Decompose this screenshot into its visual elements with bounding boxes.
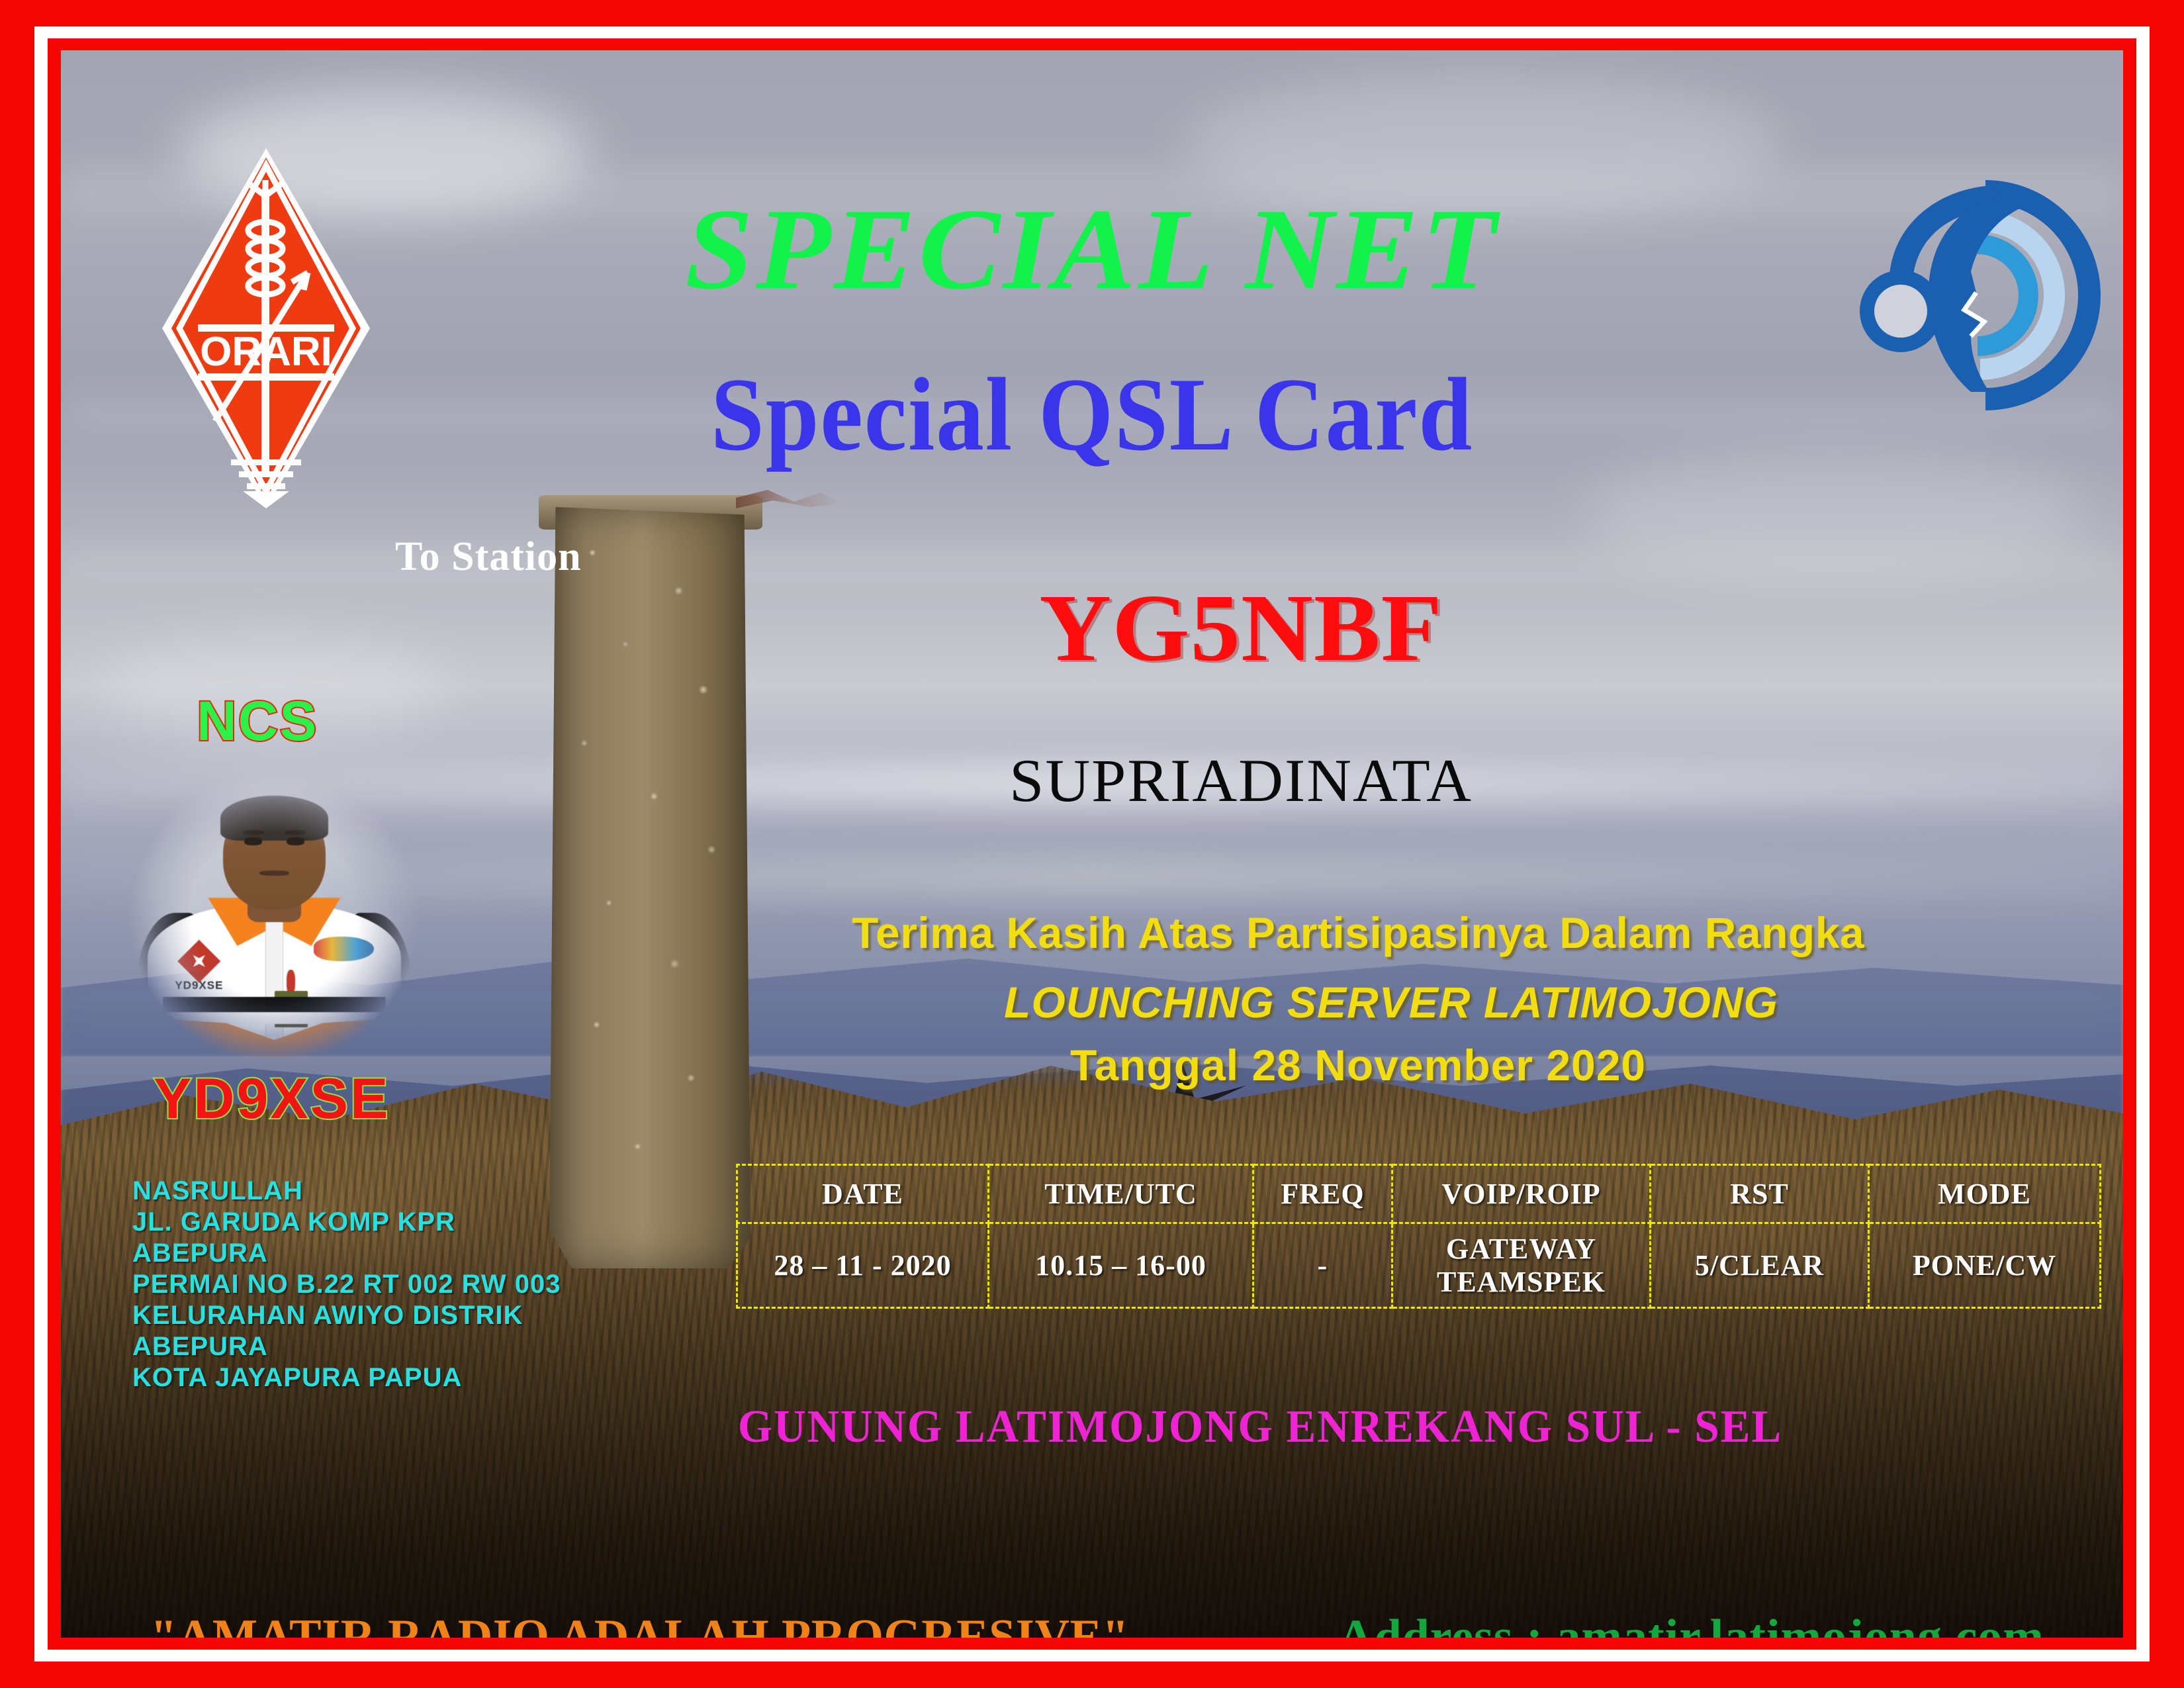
qso-details-table: DATE TIME/UTC FREQ VOIP/ROIP RST MODE 28… (736, 1164, 2101, 1309)
stone-monument-pillar (547, 507, 752, 1268)
card-subtitle: Special QSL Card (144, 355, 2041, 475)
to-station-label: To Station (395, 534, 582, 581)
column-header-time: TIME/UTC (989, 1165, 1253, 1223)
portrait-eye-left (244, 837, 262, 845)
table-row: 28 – 11 - 2020 10.15 – 16-00 - GATEWAY T… (737, 1223, 2101, 1308)
cell-voip-line2: TEAMSPEK (1393, 1266, 1649, 1298)
card-photo-background: ORARI (61, 50, 2123, 1638)
cell-date: 28 – 11 - 2020 (737, 1223, 989, 1308)
ncs-callsign: YD9XSE (154, 1066, 390, 1132)
cell-time: 10.15 – 16-00 (989, 1223, 1253, 1308)
address-line: KELURAHAN AWIYO DISTRIK (132, 1300, 561, 1331)
column-header-freq: FREQ (1253, 1165, 1392, 1223)
address-line: JL. GARUDA KOMP KPR (132, 1207, 561, 1238)
cell-voip: GATEWAY TEAMSPEK (1392, 1223, 1651, 1308)
cell-mode: PONE/CW (1869, 1223, 2101, 1308)
address-line: PERMAI NO B.22 RT 002 RW 003 (132, 1269, 561, 1300)
mailing-address-block: NASRULLAH JL. GARUDA KOMP KPR ABEPURA PE… (132, 1176, 561, 1393)
portrait-eye-right (287, 837, 304, 845)
station-callsign: YG5NBF (1039, 573, 1442, 683)
column-header-voip: VOIP/ROIP (1392, 1165, 1651, 1223)
thanks-message-line3: Tanggal 28 November 2020 (1070, 1040, 1646, 1090)
address-line: NASRULLAH (132, 1176, 561, 1207)
address-line: ABEPURA (132, 1331, 561, 1362)
table-header-row: DATE TIME/UTC FREQ VOIP/ROIP RST MODE (737, 1165, 2101, 1223)
thanks-message-line1: Terima Kasih Atas Partisipasinya Dalam R… (852, 908, 1864, 958)
column-header-mode: MODE (1869, 1165, 2101, 1223)
portrait-mouth (259, 870, 290, 875)
thanks-message-line2: LOUNCHING SERVER LATIMOJONG (1004, 977, 1778, 1027)
portrait-shoulder-logo (314, 937, 374, 961)
footer-quote: "AMATIR RADIO ADALAH PROGRESIVE" (150, 1609, 1129, 1638)
operator-name: SUPRIADINATA (1009, 745, 1473, 816)
qsl-card: ORARI (0, 0, 2184, 1688)
cell-freq: - (1253, 1223, 1392, 1308)
ncs-label: NCS (197, 689, 318, 753)
portrait-eyebrow-left (243, 830, 264, 835)
portrait-eyebrow-right (285, 830, 306, 835)
cell-rst: 5/CLEAR (1651, 1223, 1869, 1308)
address-line: ABEPURA (132, 1238, 561, 1269)
ncs-operator-photo: YD9XSE (124, 765, 425, 1066)
portrait-hair (220, 796, 329, 841)
footer-address: Address : amatir.latimojong.com (1338, 1609, 2044, 1638)
card-title: SPECIAL NET (61, 183, 2123, 316)
column-header-date: DATE (737, 1165, 989, 1223)
cell-voip-line1: GATEWAY (1393, 1233, 1649, 1265)
address-line: KOTA JAYAPURA PAPUA (132, 1362, 561, 1393)
column-header-rst: RST (1651, 1165, 1869, 1223)
portrait-shirt-callsign: YD9XSE (175, 979, 223, 992)
location-text: GUNUNG LATIMOJONG ENREKANG SUL - SEL (738, 1401, 1782, 1454)
